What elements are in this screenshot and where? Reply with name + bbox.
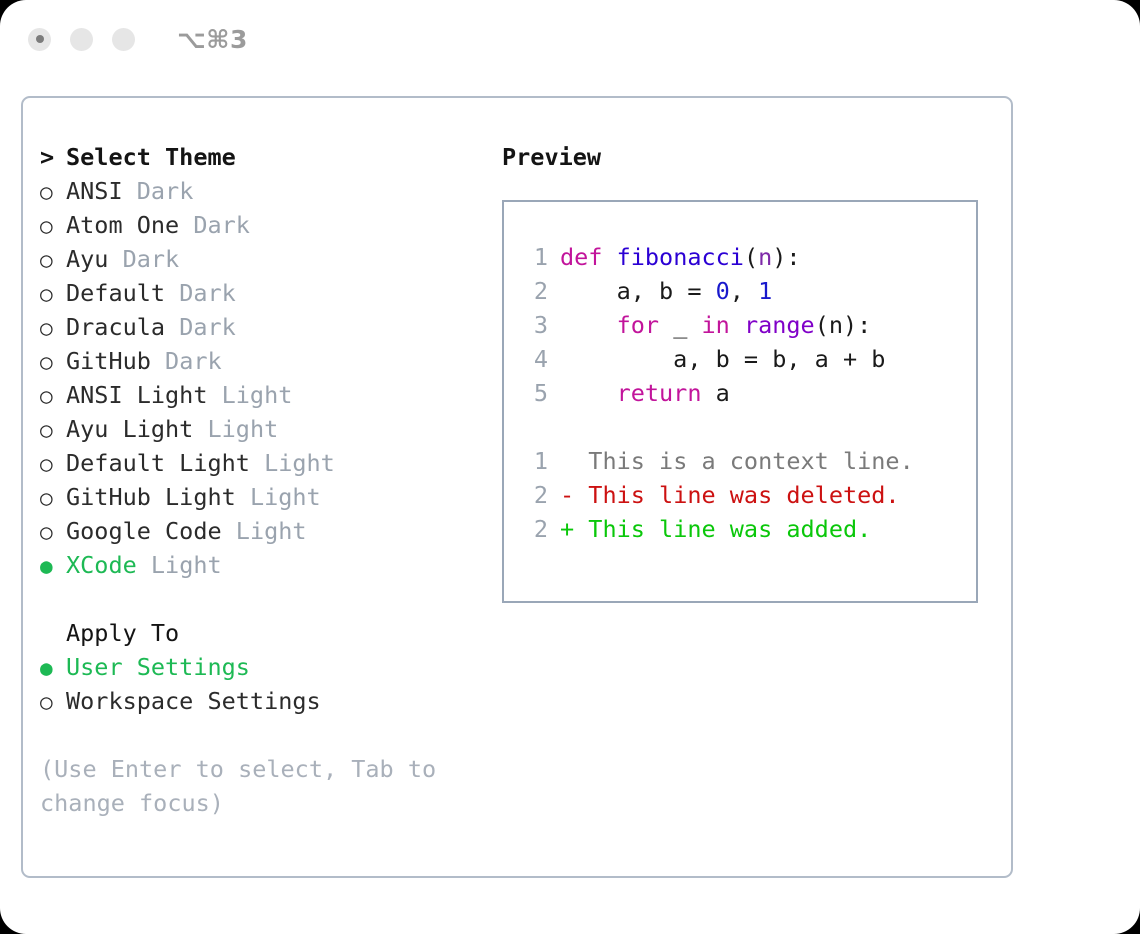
apply-to-list: ●User Settings○Workspace Settings	[40, 650, 490, 718]
theme-option-github-light[interactable]: ○GitHub Light Light	[40, 480, 490, 514]
theme-variant-badge: Light	[222, 381, 293, 409]
theme-name: GitHub Light	[66, 483, 236, 511]
radio-unselected-icon: ○	[40, 243, 66, 277]
apply-to-option-workspace-settings[interactable]: ○Workspace Settings	[40, 684, 490, 718]
code-token-plain: a, b =	[560, 277, 716, 305]
theme-selector-column: >Select Theme ○ANSI Dark○Atom One Dark○A…	[40, 140, 490, 820]
line-number: 1	[522, 240, 548, 274]
radio-unselected-icon: ○	[40, 175, 66, 209]
active-dot-icon	[36, 35, 44, 43]
keyboard-hint: (Use Enter to select, Tab to change focu…	[40, 752, 460, 820]
code-line: 4 a, b = b, a + b	[504, 342, 976, 376]
code-token-plain: a, b = b, a + b	[560, 345, 885, 373]
diff-marker	[560, 447, 574, 475]
preview-box: 1def fibonacci(n):2 a, b = 0, 13 for _ i…	[502, 200, 978, 603]
apply-to-heading: Apply To	[40, 616, 490, 650]
code-token-plain	[730, 311, 744, 339]
theme-variant-badge: Light	[151, 551, 222, 579]
line-number: 1	[522, 444, 548, 478]
code-token-plain: (	[744, 243, 758, 271]
diff-line: 1 This is a context line.	[504, 444, 976, 478]
theme-name: Default Light	[66, 449, 250, 477]
radio-unselected-icon: ○	[40, 685, 66, 719]
radio-unselected-icon: ○	[40, 379, 66, 413]
diff-marker: -	[560, 481, 574, 509]
code-line: 5 return a	[504, 376, 976, 410]
diff-line: 2- This line was deleted.	[504, 478, 976, 512]
apply-to-label: User Settings	[66, 653, 250, 681]
theme-variant-badge: Dark	[137, 177, 194, 205]
code-token-var: n	[758, 243, 772, 271]
code-token-plain	[602, 243, 616, 271]
code-token-num: 1	[758, 277, 772, 305]
theme-variant-badge: Light	[236, 517, 307, 545]
radio-unselected-icon: ○	[40, 413, 66, 447]
code-token-plain: _	[659, 311, 701, 339]
code-token-plain: ,	[730, 277, 758, 305]
line-number: 3	[522, 308, 548, 342]
theme-variant-badge: Light	[264, 449, 335, 477]
theme-option-default[interactable]: ○Default Dark	[40, 276, 490, 310]
theme-name: GitHub	[66, 347, 151, 375]
code-line: 1def fibonacci(n):	[504, 240, 976, 274]
radio-unselected-icon: ○	[40, 209, 66, 243]
theme-option-ayu[interactable]: ○Ayu Dark	[40, 242, 490, 276]
apply-to-option-user-settings[interactable]: ●User Settings	[40, 650, 490, 684]
theme-list: ○ANSI Dark○Atom One Dark○Ayu Dark○Defaul…	[40, 174, 490, 582]
radio-unselected-icon: ○	[40, 447, 66, 481]
theme-name: ANSI Light	[66, 381, 207, 409]
shortcut-label: ⌥⌘3	[177, 27, 248, 52]
line-number: 2	[522, 512, 548, 546]
theme-name: Atom One	[66, 211, 179, 239]
theme-option-ayu-light[interactable]: ○Ayu Light Light	[40, 412, 490, 446]
theme-variant-badge: Dark	[165, 347, 222, 375]
theme-option-default-light[interactable]: ○Default Light Light	[40, 446, 490, 480]
code-line: 2 a, b = 0, 1	[504, 274, 976, 308]
line-number: 4	[522, 342, 548, 376]
radio-selected-icon: ●	[40, 549, 66, 583]
code-token-plain: (n):	[815, 311, 872, 339]
theme-option-ansi-light[interactable]: ○ANSI Light Light	[40, 378, 490, 412]
code-preview: 1def fibonacci(n):2 a, b = 0, 13 for _ i…	[504, 240, 976, 410]
window-control-maximize[interactable]	[112, 28, 135, 51]
code-token-kw: in	[702, 311, 730, 339]
radio-unselected-icon: ○	[40, 345, 66, 379]
diff-text: This line was deleted.	[574, 481, 899, 509]
theme-name: Dracula	[66, 313, 165, 341]
preview-title: Preview	[502, 140, 992, 174]
theme-name: XCode	[66, 551, 137, 579]
theme-option-ansi[interactable]: ○ANSI Dark	[40, 174, 490, 208]
spacer	[40, 582, 490, 616]
code-line: 3 for _ in range(n):	[504, 308, 976, 342]
select-theme-heading: >Select Theme	[40, 140, 490, 174]
diff-text: This line was added.	[574, 515, 871, 543]
radio-selected-icon: ●	[40, 651, 66, 685]
caret-icon: >	[40, 140, 66, 174]
diff-text: This is a context line.	[574, 447, 914, 475]
theme-name: Ayu Light	[66, 415, 193, 443]
code-token-kw: for	[617, 311, 659, 339]
code-token-plain: a	[701, 379, 729, 407]
diff-preview: 1 This is a context line.2- This line wa…	[504, 444, 976, 546]
window-controls	[28, 28, 135, 51]
code-token-kw: return	[617, 379, 702, 407]
theme-variant-badge: Dark	[123, 245, 180, 273]
code-token-plain	[560, 379, 617, 407]
theme-variant-badge: Dark	[179, 279, 236, 307]
theme-option-xcode[interactable]: ●XCode Light	[40, 548, 490, 582]
code-diff-separator	[504, 410, 976, 444]
code-token-call: range	[744, 311, 815, 339]
code-token-num: 0	[716, 277, 730, 305]
theme-name: Default	[66, 279, 165, 307]
theme-variant-badge: Dark	[179, 313, 236, 341]
window-control-minimize[interactable]	[70, 28, 93, 51]
code-token-fn: fibonacci	[617, 243, 744, 271]
window-control-close[interactable]	[28, 28, 51, 51]
radio-unselected-icon: ○	[40, 311, 66, 345]
theme-name: Google Code	[66, 517, 222, 545]
theme-option-github[interactable]: ○GitHub Dark	[40, 344, 490, 378]
theme-variant-badge: Dark	[193, 211, 250, 239]
line-number: 2	[522, 478, 548, 512]
diff-line: 2+ This line was added.	[504, 512, 976, 546]
select-theme-heading-label: Select Theme	[66, 143, 236, 171]
theme-variant-badge: Light	[208, 415, 279, 443]
radio-unselected-icon: ○	[40, 515, 66, 549]
radio-unselected-icon: ○	[40, 481, 66, 515]
title-bar: ⌥⌘3	[0, 0, 1140, 78]
line-number: 2	[522, 274, 548, 308]
app-window: ⌥⌘3 >Select Theme ○ANSI Dark○Atom One Da…	[0, 0, 1140, 934]
theme-option-dracula[interactable]: ○Dracula Dark	[40, 310, 490, 344]
theme-name: Ayu	[66, 245, 108, 273]
code-token-plain: ):	[772, 243, 800, 271]
code-token-kw: def	[560, 243, 602, 271]
radio-unselected-icon: ○	[40, 277, 66, 311]
preview-column: Preview 1def fibonacci(n):2 a, b = 0, 13…	[502, 140, 992, 603]
code-token-plain	[560, 311, 617, 339]
theme-name: ANSI	[66, 177, 123, 205]
line-number: 5	[522, 376, 548, 410]
main-panel: >Select Theme ○ANSI Dark○Atom One Dark○A…	[21, 96, 1013, 878]
theme-option-google-code[interactable]: ○Google Code Light	[40, 514, 490, 548]
theme-variant-badge: Light	[250, 483, 321, 511]
apply-to-label: Workspace Settings	[66, 687, 321, 715]
theme-option-atom-one[interactable]: ○Atom One Dark	[40, 208, 490, 242]
diff-marker: +	[560, 515, 574, 543]
